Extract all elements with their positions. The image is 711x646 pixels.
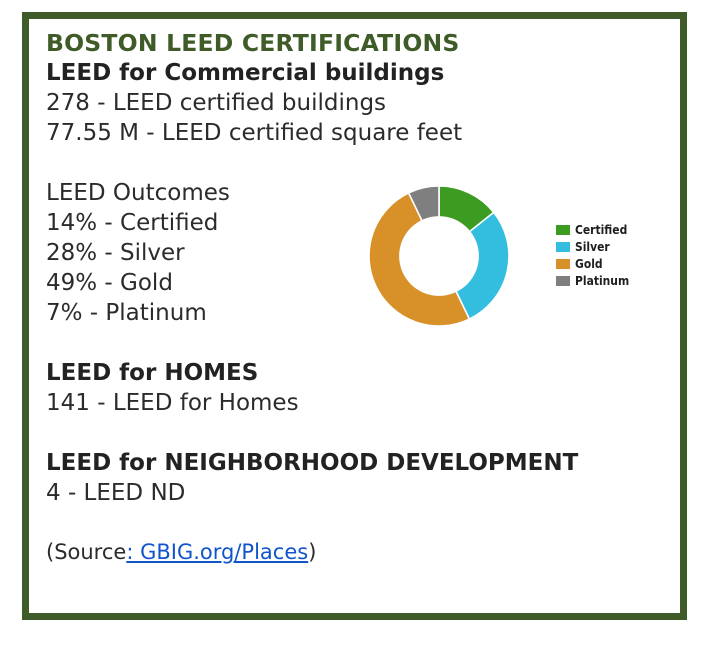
- legend-item-certified: Certified: [556, 221, 651, 238]
- spacer-after-homes: [46, 418, 676, 448]
- source-prefix: (Source: [46, 540, 126, 564]
- outcome-silver: 28% - Silver: [46, 238, 346, 268]
- source-link[interactable]: : GBIG.org/Places: [126, 540, 308, 564]
- legend-swatch-silver: [556, 242, 570, 252]
- outcomes-list: LEED Outcomes 14% - Certified 28% - Silv…: [46, 178, 346, 328]
- legend-swatch-gold: [556, 259, 570, 269]
- infographic-card: BOSTON LEED CERTIFICATIONS LEED for Comm…: [22, 12, 687, 620]
- legend-label-certified: Certified: [575, 222, 627, 237]
- commercial-stat-buildings: 278 - LEED certified buildings: [46, 88, 676, 118]
- spacer-after-neighborhood: [46, 508, 676, 538]
- legend-item-gold: Gold: [556, 255, 651, 272]
- page-title: BOSTON LEED CERTIFICATIONS: [46, 28, 676, 58]
- neighborhood-stat: 4 - LEED ND: [46, 478, 676, 508]
- legend-swatch-certified: [556, 225, 570, 235]
- section-heading-neighborhood: LEED for NEIGHBORHOOD DEVELOPMENT: [46, 448, 676, 478]
- donut-hole: [399, 216, 479, 296]
- source-line: (Source: GBIG.org/Places): [46, 538, 676, 566]
- outcome-platinum: 7% - Platinum: [46, 298, 346, 328]
- legend-label-gold: Gold: [575, 256, 603, 271]
- outcome-gold: 49% - Gold: [46, 268, 346, 298]
- legend-item-platinum: Platinum: [556, 272, 651, 289]
- outcomes-band: LEED Outcomes 14% - Certified 28% - Silv…: [46, 178, 676, 358]
- legend-label-platinum: Platinum: [575, 273, 629, 288]
- commercial-stat-square-feet: 77.55 M - LEED certified square feet: [46, 118, 676, 148]
- outcome-certified: 14% - Certified: [46, 208, 346, 238]
- homes-stat: 141 - LEED for Homes: [46, 388, 676, 418]
- source-suffix: ): [308, 540, 316, 564]
- legend-item-silver: Silver: [556, 238, 651, 255]
- chart-legend: Certified Silver Gold Platinum: [556, 221, 651, 289]
- legend-swatch-platinum: [556, 276, 570, 286]
- leed-outcomes-donut-chart: [368, 185, 510, 327]
- spacer-after-commercial: [46, 148, 676, 178]
- section-heading-commercial: LEED for Commercial buildings: [46, 58, 676, 88]
- legend-label-silver: Silver: [575, 239, 610, 254]
- section-heading-homes: LEED for HOMES: [46, 358, 676, 388]
- outcomes-heading: LEED Outcomes: [46, 178, 346, 208]
- card-content: BOSTON LEED CERTIFICATIONS LEED for Comm…: [46, 28, 676, 613]
